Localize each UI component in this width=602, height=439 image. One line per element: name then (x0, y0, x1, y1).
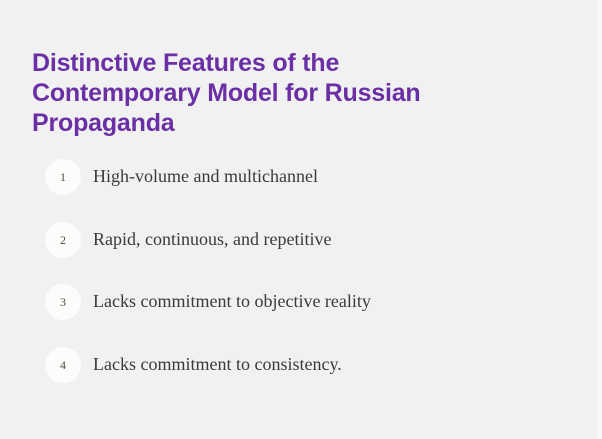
list-item-number-badge: 2 (45, 222, 81, 258)
page-title: Distinctive Features of the Contemporary… (32, 48, 502, 138)
list-item-number-badge: 4 (45, 347, 81, 383)
slide-canvas: Distinctive Features of the Contemporary… (0, 0, 602, 439)
list-item[interactable]: 3Lacks commitment to objective reality (45, 284, 371, 320)
list-item[interactable]: 4Lacks commitment to consistency. (45, 347, 342, 383)
list-item-label: Rapid, continuous, and repetitive (93, 229, 331, 251)
list-item-label: Lacks commitment to consistency. (93, 354, 342, 376)
list-item-label: High-volume and multichannel (93, 166, 318, 188)
list-item-number: 3 (60, 296, 66, 308)
right-edge-strip (597, 0, 602, 439)
list-item-number: 4 (60, 359, 66, 371)
list-item-label: Lacks commitment to objective reality (93, 291, 371, 313)
list-item[interactable]: 1High-volume and multichannel (45, 159, 318, 195)
list-item[interactable]: 2Rapid, continuous, and repetitive (45, 222, 331, 258)
list-item-number: 1 (60, 171, 66, 183)
list-item-number-badge: 1 (45, 159, 81, 195)
list-item-number-badge: 3 (45, 284, 81, 320)
list-item-number: 2 (60, 234, 66, 246)
